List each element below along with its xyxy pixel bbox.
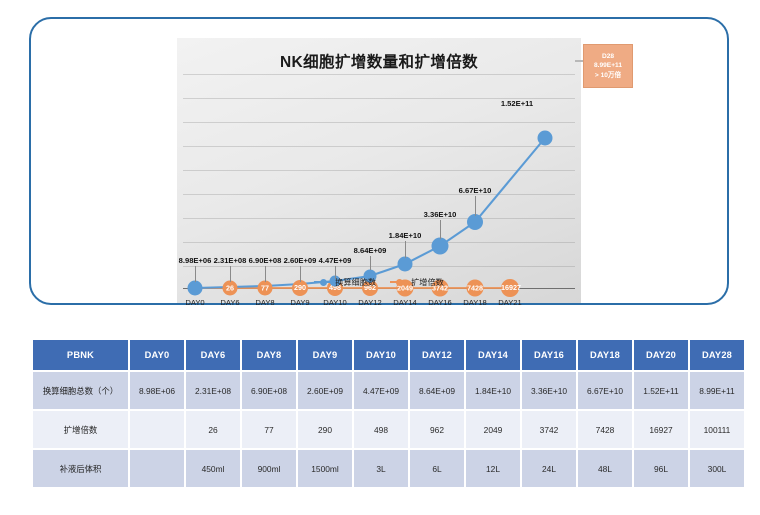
table-cell: 77 [242, 411, 296, 448]
table-cell: 4.47E+09 [354, 372, 408, 409]
table-cell: 1.84E+10 [466, 372, 520, 409]
table-header-cell: DAY10 [354, 340, 408, 370]
value-label: 3.36E+10 [424, 210, 457, 219]
chart-legend: 换算细胞数 扩增倍数 [177, 276, 581, 288]
table-cell: 900ml [242, 450, 296, 487]
table-cell: 16927 [634, 411, 688, 448]
legend-item-blue[interactable]: 换算细胞数 [314, 276, 376, 288]
leader-line [405, 241, 406, 258]
table-cell: 7428 [578, 411, 632, 448]
table-header-cell: DAY20 [634, 340, 688, 370]
table-cell: 26 [186, 411, 240, 448]
x-axis-label: DAY12 [358, 298, 382, 307]
callout-line-3: > 10万倍 [595, 71, 621, 81]
value-label: 2.60E+09 [284, 256, 317, 265]
table-cell: 3L [354, 450, 408, 487]
leader-line [370, 256, 371, 270]
table-cell: 450ml [186, 450, 240, 487]
table-header-cell: DAY28 [690, 340, 744, 370]
table-cell: 6.90E+08 [242, 372, 296, 409]
table-row-label: 扩增倍数 [33, 411, 128, 448]
table-cell: 2.31E+08 [186, 372, 240, 409]
data-point-blue[interactable] [538, 131, 553, 146]
x-axis-label: DAY8 [255, 298, 274, 307]
table-cell: 6L [410, 450, 464, 487]
table-header-cell: DAY18 [578, 340, 632, 370]
table-row-label: 换算细胞总数（个） [33, 372, 128, 409]
table-cell: 100111 [690, 411, 744, 448]
legend-swatch-blue [314, 278, 333, 286]
table-cell [130, 411, 184, 448]
callout-box: D28 8.99E+11 > 10万倍 [583, 44, 633, 88]
data-point-blue[interactable] [432, 238, 449, 255]
table-header-row: PBNK DAY0 DAY6 DAY8 DAY9 DAY10 DAY12 DAY… [33, 340, 744, 370]
slide-canvas: NK细胞扩增数量和扩增倍数 26 77 290 498 962 2049 374… [0, 0, 760, 515]
table-header-cell: DAY9 [298, 340, 352, 370]
table-header-cell: DAY8 [242, 340, 296, 370]
x-axis-label: DAY0 [185, 298, 204, 307]
value-label: 1.52E+11 [501, 99, 533, 108]
x-axis-label: DAY18 [463, 298, 487, 307]
data-table: PBNK DAY0 DAY6 DAY8 DAY9 DAY10 DAY12 DAY… [31, 338, 746, 489]
table-cell: 3.36E+10 [522, 372, 576, 409]
value-label: 4.47E+09 [319, 256, 352, 265]
legend-item-orange[interactable]: 扩增倍数 [390, 276, 444, 288]
table-header-cell: DAY12 [410, 340, 464, 370]
callout-line-2: 8.99E+11 [594, 61, 622, 71]
callout-line-1: D28 [602, 52, 614, 62]
table-cell: 1500ml [298, 450, 352, 487]
legend-label: 扩增倍数 [411, 278, 444, 287]
value-label: 8.64E+09 [354, 246, 387, 255]
table-cell: 2049 [466, 411, 520, 448]
table-cell: 290 [298, 411, 352, 448]
leader-line [440, 220, 441, 239]
data-point-blue[interactable] [398, 257, 413, 272]
legend-label: 换算细胞数 [335, 278, 376, 287]
value-label: 6.67E+10 [459, 186, 492, 195]
table-cell: 96L [634, 450, 688, 487]
x-axis-label: DAY9 [290, 298, 309, 307]
table-cell: 8.98E+06 [130, 372, 184, 409]
x-axis-label: DAY21 [498, 298, 522, 307]
table-row: 换算细胞总数（个） 8.98E+06 2.31E+08 6.90E+08 2.6… [33, 372, 744, 409]
table-cell: 300L [690, 450, 744, 487]
x-axis-label: DAY16 [428, 298, 452, 307]
table-cell: 2.60E+09 [298, 372, 352, 409]
table-cell: 1.52E+11 [634, 372, 688, 409]
table-row: 扩增倍数 26 77 290 498 962 2049 3742 7428 16… [33, 411, 744, 448]
table-cell: 12L [466, 450, 520, 487]
table-header-cell: PBNK [33, 340, 128, 370]
table-cell: 8.64E+09 [410, 372, 464, 409]
table-cell: 3742 [522, 411, 576, 448]
table-cell: 6.67E+10 [578, 372, 632, 409]
table-header-cell: DAY14 [466, 340, 520, 370]
leader-line [475, 196, 476, 216]
table-header-cell: DAY16 [522, 340, 576, 370]
table-header-cell: DAY0 [130, 340, 184, 370]
chart-card: NK细胞扩增数量和扩增倍数 26 77 290 498 962 2049 374… [177, 38, 581, 303]
value-label: 2.31E+08 [214, 256, 247, 265]
legend-swatch-orange [390, 278, 409, 286]
table-cell [130, 450, 184, 487]
value-label: 6.90E+08 [249, 256, 282, 265]
table-row-label: 补液后体积 [33, 450, 128, 487]
table-row: 补液后体积 450ml 900ml 1500ml 3L 6L 12L 24L 4… [33, 450, 744, 487]
x-axis-label: DAY6 [220, 298, 239, 307]
x-axis-label: DAY14 [393, 298, 417, 307]
value-label: 8.98E+06 [179, 256, 212, 265]
data-point-blue[interactable] [467, 214, 483, 230]
table-cell: 24L [522, 450, 576, 487]
table-cell: 48L [578, 450, 632, 487]
table-header-cell: DAY6 [186, 340, 240, 370]
table-cell: 8.99E+11 [690, 372, 744, 409]
table-cell: 498 [354, 411, 408, 448]
value-label: 1.84E+10 [389, 231, 422, 240]
table-cell: 962 [410, 411, 464, 448]
x-axis-label: DAY10 [323, 298, 347, 307]
